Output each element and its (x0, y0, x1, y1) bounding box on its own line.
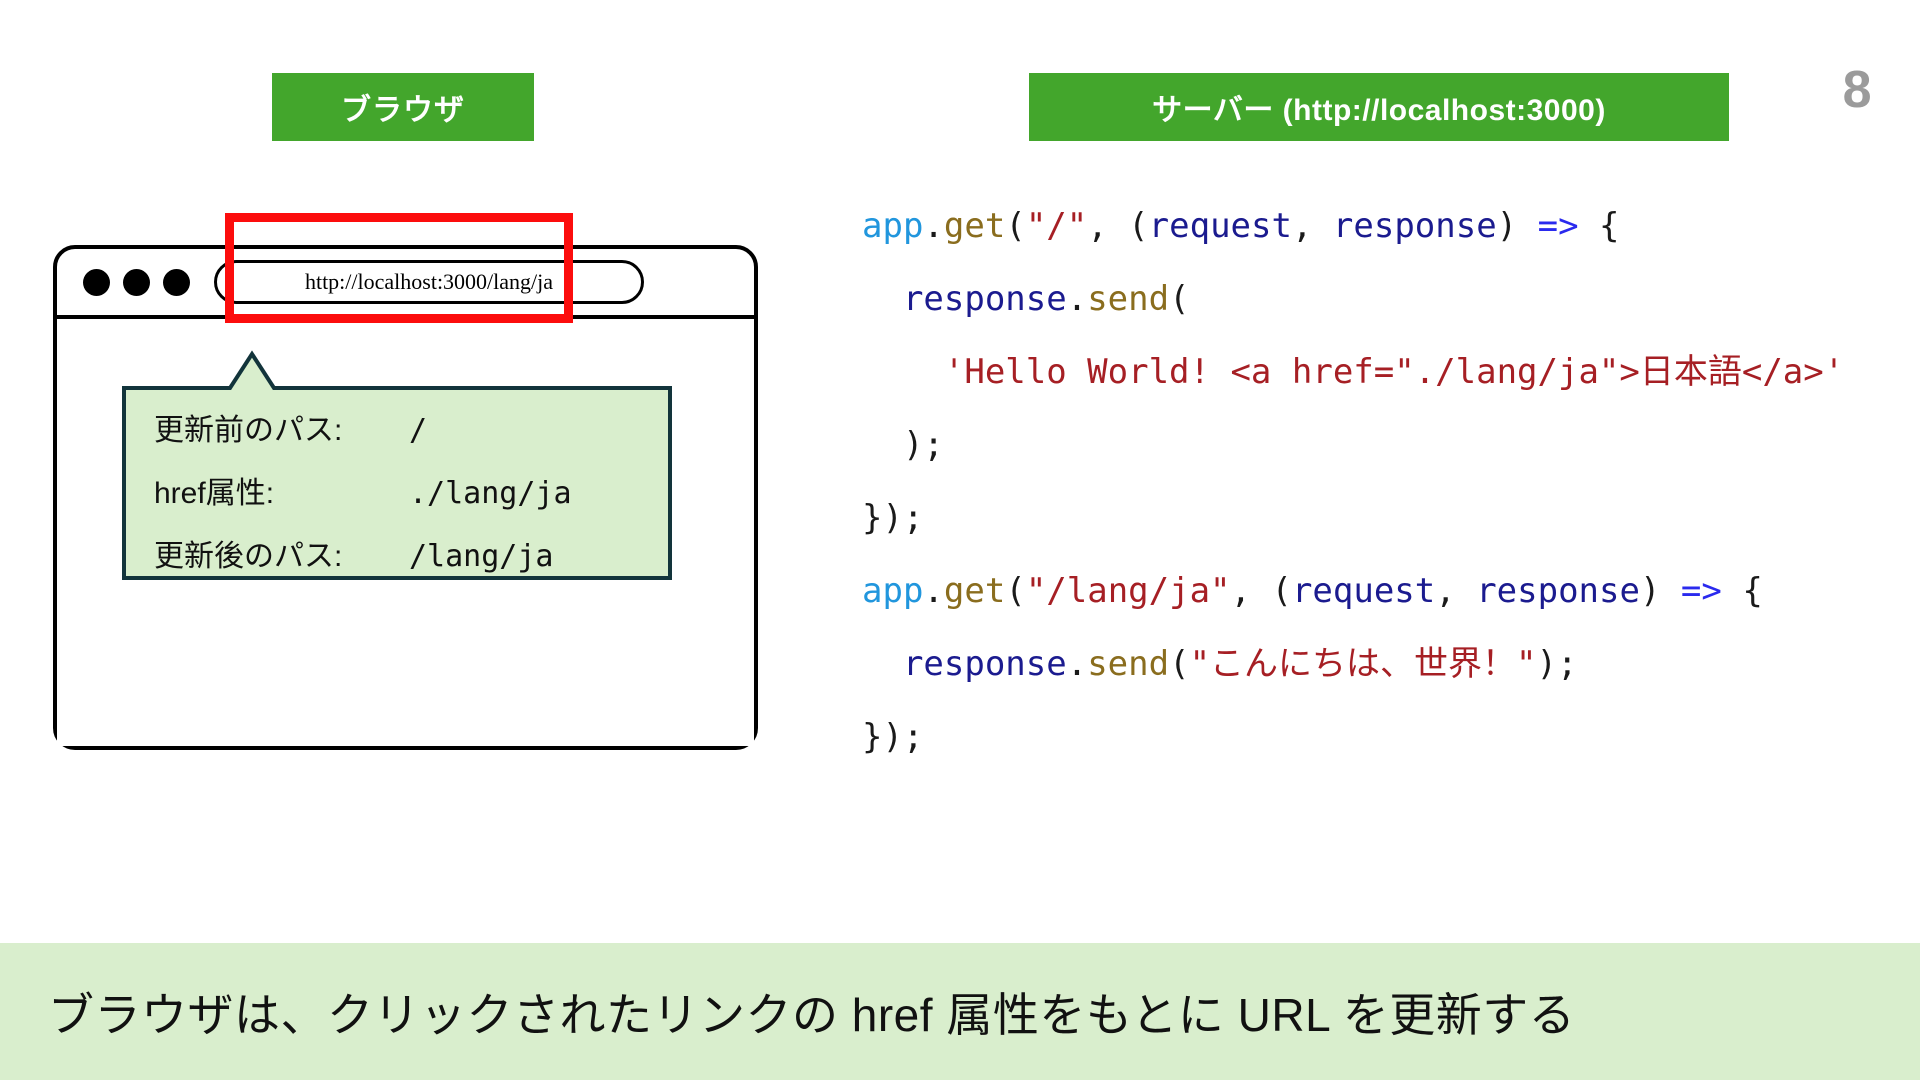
code-token: ) (1640, 571, 1681, 611)
code-token: send (1087, 644, 1169, 684)
callout-row-value: ./lang/ja (409, 476, 572, 511)
window-dot-minimize-icon[interactable] (123, 269, 150, 296)
code-token: ( (1005, 571, 1025, 611)
code-token: request (1292, 571, 1435, 611)
code-line: }); (862, 701, 1844, 774)
code-token: { (1722, 571, 1763, 611)
code-token: }); (862, 498, 923, 538)
code-line: app.get("/", (request, response) => { (862, 190, 1844, 263)
code-token: "/lang/ja" (1026, 571, 1231, 611)
code-token: , (1292, 206, 1333, 246)
code-token: response (1333, 206, 1497, 246)
code-line: app.get("/lang/ja", (request, response) … (862, 555, 1844, 628)
url-address-bar[interactable]: http://localhost:3000/lang/ja (214, 260, 644, 304)
code-token: ( (1005, 206, 1025, 246)
code-token: ( (1169, 644, 1189, 684)
code-token: get (944, 571, 1005, 611)
code-token: => (1538, 206, 1579, 246)
code-token: response (903, 279, 1067, 319)
callout-row-label: href属性: (154, 468, 409, 512)
code-block: app.get("/", (request, response) => { re… (862, 190, 1844, 774)
header-pill-browser: ブラウザ (272, 73, 534, 141)
code-token: . (923, 206, 943, 246)
bottom-banner: ブラウザは、クリックされたリンクの href 属性をもとに URL を更新する (0, 943, 1920, 1080)
code-token: => (1681, 571, 1722, 611)
bottom-banner-text: ブラウザは、クリックされたリンクの href 属性をもとに URL を更新する (48, 979, 1575, 1045)
code-token: ) (1497, 206, 1538, 246)
code-line: 'Hello World! <a href="./lang/ja">日本語</a… (862, 336, 1844, 409)
code-token: ); (862, 425, 944, 465)
callout-row-label: 更新前のパス: (154, 405, 409, 449)
browser-chrome-bar: http://localhost:3000/lang/ja (57, 249, 754, 319)
code-line: response.send( (862, 263, 1844, 336)
callout-row: 更新前のパス: / (154, 405, 654, 468)
code-token: { (1579, 206, 1620, 246)
code-token: request (1149, 206, 1292, 246)
header-pill-browser-label: ブラウザ (341, 85, 465, 129)
window-dot-close-icon[interactable] (83, 269, 110, 296)
callout-row-value: /lang/ja (409, 539, 554, 574)
code-token: }); (862, 717, 923, 757)
code-token: , (1435, 571, 1476, 611)
code-token: ( (1169, 279, 1189, 319)
code-line: ); (862, 409, 1844, 482)
slide-root: 8 ブラウザ サーバー (http://localhost:3000) http… (0, 0, 1920, 1080)
code-token (862, 644, 903, 684)
code-line: response.send("こんにちは、世界！"); (862, 628, 1844, 701)
code-token (862, 352, 944, 392)
traffic-lights-group (83, 269, 190, 296)
page-number: 8 (1843, 60, 1872, 120)
callout-bubble: 更新前のパス: / href属性: ./lang/ja 更新後のパス: /lan… (122, 350, 672, 580)
code-token: response (1476, 571, 1640, 611)
code-token: "こんにちは、世界！" (1190, 644, 1537, 684)
header-pill-server-label: サーバー (http://localhost:3000) (1152, 85, 1606, 129)
code-token: response (903, 644, 1067, 684)
window-dot-maximize-icon[interactable] (163, 269, 190, 296)
code-token: send (1087, 279, 1169, 319)
code-line: }); (862, 482, 1844, 555)
code-token: app (862, 206, 923, 246)
callout-row: 更新後のパス: /lang/ja (154, 531, 654, 594)
code-token: ); (1537, 644, 1578, 684)
code-token: . (1067, 279, 1087, 319)
code-token: . (1067, 644, 1087, 684)
code-token: 'Hello World! <a href="./lang/ja">日本語</a… (944, 352, 1844, 392)
code-token: . (923, 571, 943, 611)
code-token (862, 279, 903, 319)
code-token: get (944, 206, 1005, 246)
code-token: app (862, 571, 923, 611)
callout-row-label: 更新後のパス: (154, 531, 409, 575)
header-pill-server: サーバー (http://localhost:3000) (1029, 73, 1729, 141)
code-token: , ( (1087, 206, 1148, 246)
callout-rows: 更新前のパス: / href属性: ./lang/ja 更新後のパス: /lan… (154, 405, 654, 594)
callout-row-value: / (409, 413, 427, 448)
code-token: , ( (1231, 571, 1292, 611)
callout-row: href属性: ./lang/ja (154, 468, 654, 531)
code-token: "/" (1026, 206, 1087, 246)
url-text: http://localhost:3000/lang/ja (305, 269, 553, 295)
